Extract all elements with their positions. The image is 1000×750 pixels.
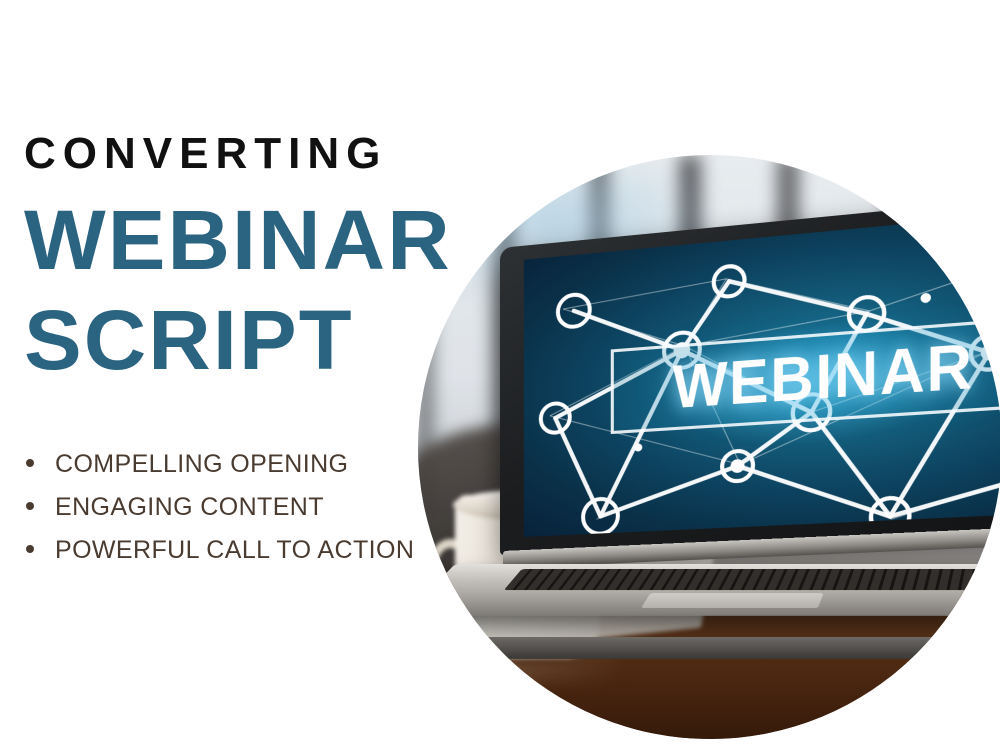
eyebrow-heading: CONVERTING [24, 132, 387, 176]
hero-photo-circle: WEBINAR [418, 155, 1000, 739]
list-item: POWERFUL CALL TO ACTION [26, 536, 446, 579]
text-column: CONVERTING WEBINAR SCRIPT COMPELLING OPE… [0, 0, 470, 750]
bullet-dot-icon [26, 545, 34, 553]
laptop-base [418, 564, 1000, 616]
bullet-dot-icon [26, 459, 34, 467]
laptop: WEBINAR [500, 248, 1000, 680]
laptop-trackpad [641, 593, 824, 608]
slide-canvas: CONVERTING WEBINAR SCRIPT COMPELLING OPE… [0, 0, 1000, 750]
bullet-label: COMPELLING OPENING [55, 450, 348, 479]
list-item: COMPELLING OPENING [26, 450, 446, 493]
bullet-label: ENGAGING CONTENT [55, 493, 324, 522]
title-line-2: SCRIPT [24, 298, 354, 382]
laptop-lid: WEBINAR [500, 189, 1000, 555]
laptop-base-edge [452, 637, 1000, 659]
title-line-1: WEBINAR [24, 198, 452, 282]
webinar-banner-text: WEBINAR [672, 335, 973, 419]
bullet-dot-icon [26, 502, 34, 510]
laptop-keyboard [504, 569, 1000, 590]
laptop-screen: WEBINAR [523, 206, 1000, 538]
photo-content: WEBINAR [418, 155, 1000, 739]
list-item: ENGAGING CONTENT [26, 493, 446, 536]
bullet-label: POWERFUL CALL TO ACTION [55, 536, 414, 565]
bullet-list: COMPELLING OPENING ENGAGING CONTENT POWE… [26, 450, 446, 579]
